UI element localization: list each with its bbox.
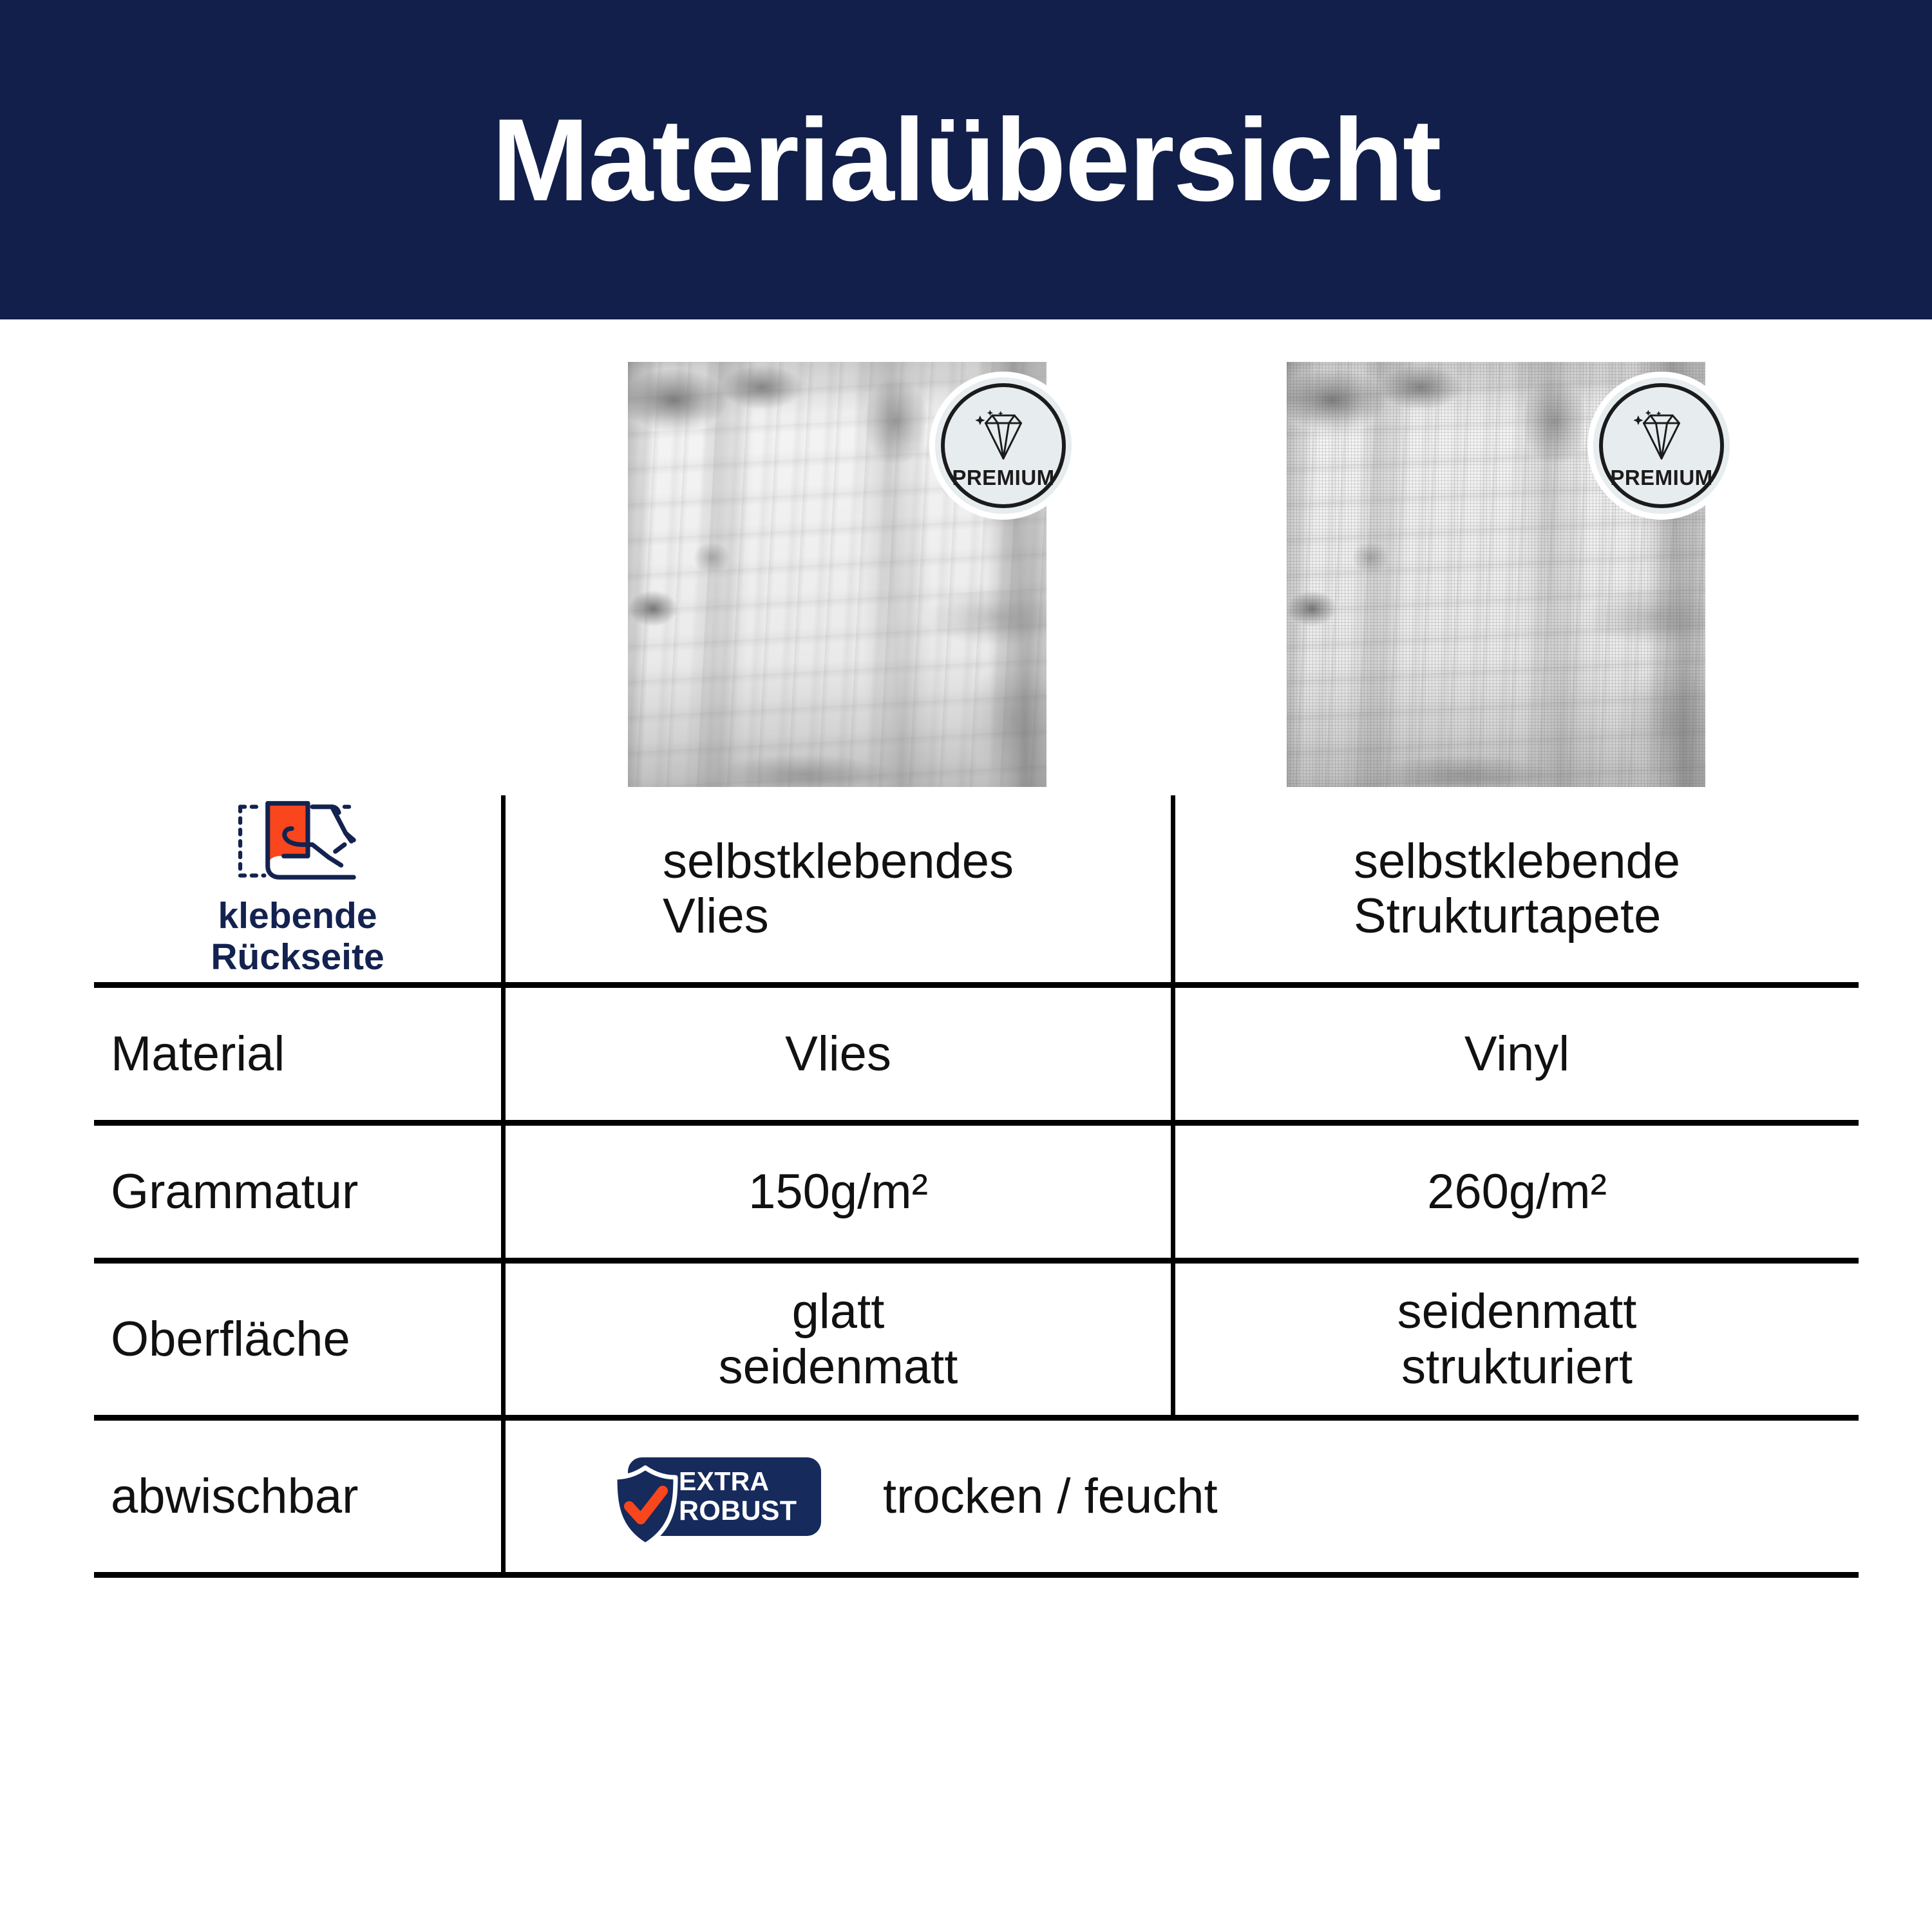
cell-abwischbar-value: EXTRA ROBUST trocken / feucht — [501, 1421, 1859, 1572]
cell-line-1: seidenmatt — [1397, 1284, 1637, 1339]
label-line-1: klebende — [218, 895, 377, 936]
material-comparison-table: klebende Rückseite selbstklebendesVlies … — [94, 795, 1859, 1578]
cell-line-2: strukturiert — [1401, 1340, 1633, 1394]
cell-line-1: selbstklebende — [1354, 834, 1680, 889]
page-header: Materialübersicht — [0, 0, 1932, 319]
table-row: Grammatur 150g/m² 260g/m² — [94, 1126, 1859, 1264]
table-row: abwischbar EXTRA ROBUST trocken / feucht — [94, 1421, 1859, 1578]
row-label-material: Material — [94, 988, 501, 1120]
cell-material-vinyl: Vinyl — [1171, 988, 1859, 1120]
shield-check-icon — [611, 1465, 679, 1548]
cell-line-2: Strukturtapete — [1354, 889, 1661, 943]
premium-badge-content: PREMIUM — [935, 377, 1072, 514]
premium-badge-label: PREMIUM — [952, 467, 1054, 488]
badge-line-1: EXTRA — [679, 1468, 769, 1495]
page-title: Materialübersicht — [491, 101, 1440, 218]
cell-vlies-name: selbstklebendesVlies — [501, 795, 1171, 982]
premium-badge: PREMIUM — [1593, 377, 1730, 514]
cell-text: glattseidenmatt — [719, 1284, 958, 1394]
premium-badge-content: PREMIUM — [1593, 377, 1730, 514]
cell-line-2: seidenmatt — [719, 1340, 958, 1394]
cell-text: selbstklebendesVlies — [663, 834, 1014, 943]
material-overview-page: Materialübersicht — [0, 0, 1932, 1932]
cell-material-vlies: Vlies — [501, 988, 1171, 1120]
cell-text: seidenmattstrukturiert — [1397, 1284, 1637, 1394]
cell-line-2: Vlies — [663, 889, 769, 943]
row-label-text: klebende Rückseite — [211, 896, 384, 978]
cell-line-1: selbstklebendes — [663, 834, 1014, 889]
table-row: Material Vlies Vinyl — [94, 988, 1859, 1126]
peel-sticker-icon — [214, 795, 381, 887]
extra-robust-label: EXTRA ROBUST — [679, 1468, 811, 1525]
row-label-grammatur: Grammatur — [94, 1126, 501, 1258]
premium-badge: PREMIUM — [935, 377, 1072, 514]
table-row: Oberfläche glattseidenmatt seidenmattstr… — [94, 1264, 1859, 1421]
cell-abwischbar-note: trocken / feucht — [883, 1469, 1218, 1524]
cell-oberflaeche-vinyl: seidenmattstrukturiert — [1171, 1264, 1859, 1415]
cell-text: selbstklebendeStrukturtapete — [1354, 834, 1680, 943]
cell-grammatur-vinyl: 260g/m² — [1171, 1126, 1859, 1258]
cell-grammatur-vlies: 150g/m² — [501, 1126, 1171, 1258]
row-label-adhesive-backing: klebende Rückseite — [94, 795, 501, 982]
cell-oberflaeche-vlies: glattseidenmatt — [501, 1264, 1171, 1415]
cell-line-1: glatt — [792, 1284, 885, 1339]
diamond-icon — [970, 408, 1037, 463]
premium-badge-label: PREMIUM — [1610, 467, 1712, 488]
row-label-oberflaeche: Oberfläche — [94, 1264, 501, 1415]
label-line-2: Rückseite — [211, 936, 384, 978]
table-row: klebende Rückseite selbstklebendesVlies … — [94, 795, 1859, 988]
diamond-icon — [1628, 408, 1695, 463]
row-label-abwischbar: abwischbar — [94, 1421, 501, 1572]
cell-strukturtapete-name: selbstklebendeStrukturtapete — [1171, 795, 1859, 982]
extra-robust-badge: EXTRA ROBUST — [628, 1457, 821, 1536]
badge-line-2: ROBUST — [679, 1497, 797, 1525]
